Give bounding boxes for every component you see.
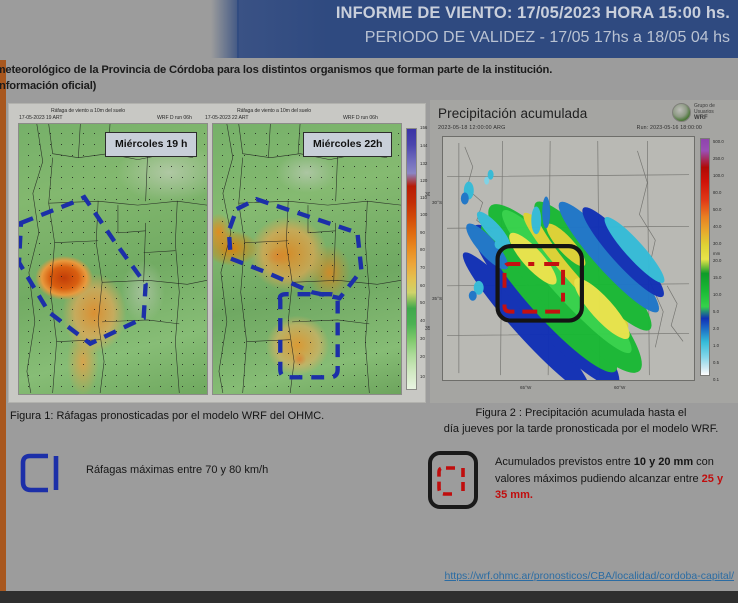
wind-legend: Ráfagas máximas entre 70 y 80 km/h — [18, 452, 378, 502]
wind-gust-map-22h — [212, 123, 402, 395]
fig1-right-map-label: Miércoles 22h — [303, 132, 392, 157]
cb2-tick: 10.0 — [713, 293, 721, 297]
cb1-tick: 132 — [420, 162, 427, 166]
fig1-left-map-datetime: 17-05-2023 19 ART — [19, 115, 62, 121]
fig2-lat-label-35s: 35°S — [432, 296, 442, 301]
intro-paragraph: drometeorológico de la Provincia de Córd… — [0, 63, 738, 94]
report-validity: PERIODO DE VALIDEZ - 17/05 17hs a 18/05 … — [365, 29, 730, 47]
wind-legend-text: Ráfagas máximas entre 70 y 80 km/h — [86, 464, 268, 476]
wind-gust-map-19h — [18, 123, 208, 395]
logo-text: Grupo de Usuarios WRF — [694, 103, 715, 121]
cb2-unit-label: mm — [713, 252, 720, 256]
cb2-tick: 100.0 — [713, 174, 724, 178]
fig1-right-map-datetime: 17-05-2023 22 ART — [205, 115, 248, 121]
fig1-right-map-run: WRF D run 06h — [343, 115, 378, 121]
fig1-right-map-title: Ráfaga de viento a 10m del suelo — [237, 108, 311, 114]
wrf-user-group-logo: Grupo de Usuarios WRF — [672, 102, 734, 124]
figure-2-panel: Precipitación acumulada 2023-05-18 12:00… — [430, 100, 738, 403]
cb2-tick: 5.0 — [713, 310, 719, 314]
cb2-tick: 0.5 — [713, 361, 719, 365]
cb1-tick: 50 — [420, 301, 425, 305]
fig2-run-time: Run: 2023-05-16 18:00:00 — [637, 125, 702, 131]
fig2-lon-label-60w: 60°W — [614, 385, 625, 390]
figure-1-caption: Figura 1: Ráfagas pronosticadas por el m… — [10, 410, 324, 422]
cb2-tick: 80.0 — [713, 191, 721, 195]
slide-canvas: INFORME DE VIENTO: 17/05/2023 HORA 15:00… — [0, 0, 738, 603]
left-accent-stripe — [0, 60, 6, 603]
cb1-tick: 10 — [420, 375, 425, 379]
cb1-tick: 100 — [420, 213, 427, 217]
cb2-tick: 0.1 — [713, 378, 719, 382]
report-title: INFORME DE VIENTO: 17/05/2023 HORA 15:00… — [336, 4, 730, 23]
figure-2-caption-line-2: día jueves por la tarde pronosticada por… — [424, 421, 738, 437]
cb1-tick: 40 — [420, 319, 425, 323]
figure-1-panel: Ráfaga de viento a 10m del suelo 17-05-2… — [8, 103, 426, 403]
report-header: INFORME DE VIENTO: 17/05/2023 HORA 15:00… — [237, 0, 738, 58]
fig2-title: Precipitación acumulada — [438, 106, 587, 121]
accumulated-precipitation-map — [442, 136, 695, 381]
forecast-url-link[interactable]: https://wrf.ohmc.ar/pronosticos/CBA/loca… — [445, 570, 734, 582]
intro-line-2: s e información oficial) — [0, 79, 738, 95]
cb2-tick: 50.0 — [713, 208, 721, 212]
fig1-left-map-title: Ráfaga de viento a 10m del suelo — [51, 108, 125, 114]
precip-map-graphics — [443, 137, 694, 380]
cb1-tick: 90 — [420, 231, 425, 235]
cb1-tick: 70 — [420, 266, 425, 270]
precip-legend-text: Acumulados previstos entre 10 y 20 mm co… — [495, 454, 731, 504]
precip-legend: Acumulados previstos entre 10 y 20 mm co… — [427, 450, 733, 516]
precipitation-colorbar-ticks: 500.0 250.0 100.0 80.0 50.0 40.0 30.0 20… — [711, 132, 737, 384]
globe-icon — [672, 103, 691, 122]
black-box-red-dashed-icon — [427, 450, 479, 510]
fig2-valid-time: 2023-05-18 12:00:00 ARG — [438, 125, 506, 131]
cb2-tick: 250.0 — [713, 157, 724, 161]
blue-dashed-box-icon — [18, 452, 66, 494]
bottom-bar — [0, 591, 738, 603]
precip-legend-part1: Acumulados previstos entre — [495, 456, 634, 468]
cb2-tick: 500.0 — [713, 140, 724, 144]
cb1-tick: 80 — [420, 248, 425, 252]
cb1-tick: 120 — [420, 179, 427, 183]
wind-gust-colorbar — [406, 128, 417, 390]
precip-legend-bold1: 10 y 20 mm — [634, 456, 693, 468]
precipitation-colorbar — [700, 138, 710, 376]
cb2-tick: 30.0 — [713, 242, 721, 246]
fig1-left-map-run: WRF D run 06h — [157, 115, 192, 121]
cb1-tick: 60 — [420, 284, 425, 288]
cb2-tick: 20.0 — [713, 259, 721, 263]
intro-line-1: drometeorológico de la Provincia de Córd… — [0, 64, 552, 76]
fig2-lat-label-30s: 30°S — [432, 200, 442, 205]
figure-2-caption: Figura 2 : Precipitación acumulada hasta… — [424, 405, 738, 437]
cb2-tick: 15.0 — [713, 276, 721, 280]
cb1-tick: 20 — [420, 355, 425, 359]
cb1-tick: 30 — [420, 337, 425, 341]
cb1-tick: 144 — [420, 144, 427, 148]
wind-barb-grid — [19, 124, 207, 394]
logo-line-3: WRF — [694, 115, 708, 121]
figure-2-caption-line-1: Figura 2 : Precipitación acumulada hasta… — [424, 405, 738, 421]
fig2-lon-label-65w: 65°W — [520, 385, 531, 390]
cb2-tick: 2.0 — [713, 327, 719, 331]
fig1-left-map-label: Miércoles 19 h — [105, 132, 197, 157]
cb2-tick: 1.0 — [713, 344, 719, 348]
wind-barb-grid — [213, 124, 401, 394]
cb2-tick: 40.0 — [713, 225, 721, 229]
cb1-tick: 156 — [420, 126, 427, 130]
